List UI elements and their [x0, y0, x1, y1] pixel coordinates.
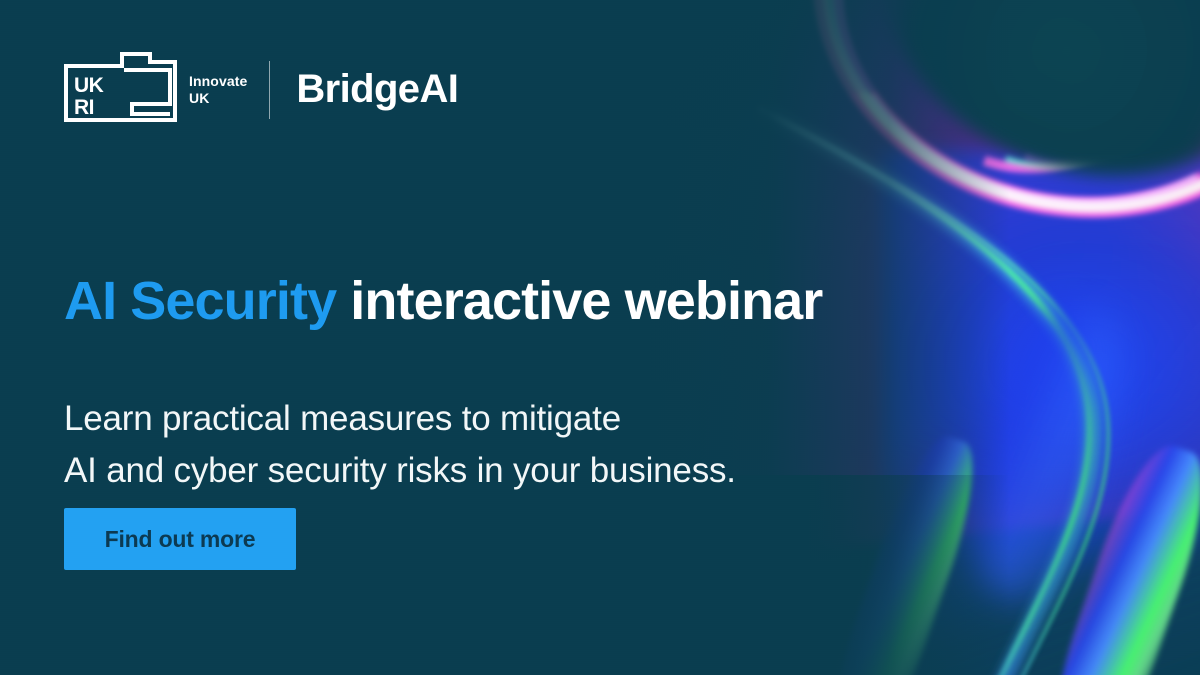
headline-accent: AI Security [64, 271, 336, 331]
artwork-arc-magenta [788, 0, 1200, 259]
find-out-more-button[interactable]: Find out more [64, 508, 296, 570]
subcopy-line-2: AI and cyber security risks in your busi… [64, 451, 736, 490]
lockup-divider [269, 61, 270, 119]
artwork-arc-teal-inner [867, 0, 1200, 216]
bridgeai-wordmark: BridgeAI [296, 67, 458, 112]
artwork-arc-violet [793, 0, 1200, 255]
svg-text:RI: RI [74, 96, 94, 119]
artwork-diagonal-ribbon-2 [1035, 435, 1200, 675]
ukri-logo: UK RI [64, 52, 177, 127]
logo-lockup[interactable]: UK RI Innovate UK BridgeAI [64, 52, 458, 127]
artwork-bottom-mask [0, 475, 1010, 675]
artwork-arc-purple-inner [893, 0, 1200, 212]
headline-plain: interactive webinar [336, 271, 822, 331]
artwork-arc-green [778, 0, 1200, 264]
page-title: AI Security interactive webinar [64, 273, 822, 330]
artwork-diagonal-glow [946, 289, 1145, 612]
svg-text:UK: UK [74, 74, 104, 97]
artwork-arc-pink-outer [766, 0, 1200, 272]
innovate-uk-label: Innovate UK [189, 73, 247, 105]
artwork-diagonal-ribbon-1 [814, 427, 991, 675]
subcopy: Learn practical measures to mitigate AI … [64, 393, 736, 497]
artwork-sweeping-ribbon [740, 0, 1200, 675]
artwork-blue-field [880, 150, 1200, 675]
subcopy-line-1: Learn practical measures to mitigate [64, 399, 621, 438]
bridgeai-webinar-banner: UK RI Innovate UK BridgeAI AI Security i… [0, 0, 1200, 675]
artwork-arc-pink-inner [836, 0, 1200, 223]
artwork-teal-notch [832, 0, 1200, 235]
